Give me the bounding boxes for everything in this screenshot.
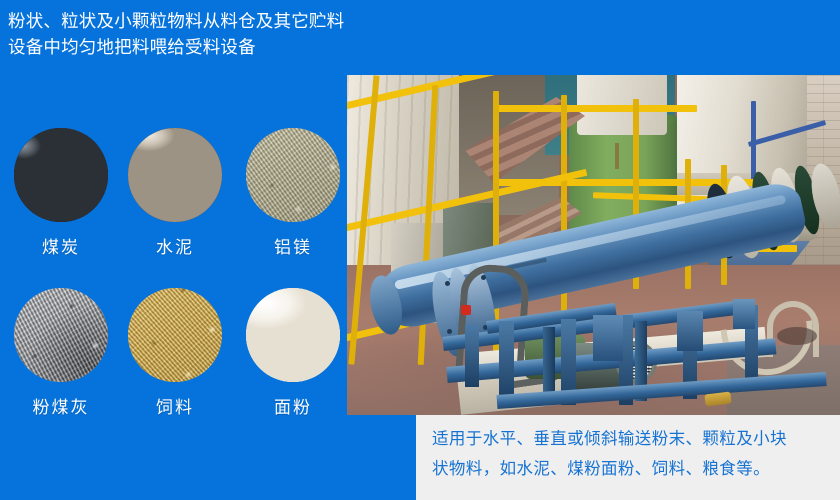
photo-yellow-rail	[497, 105, 697, 112]
photo-floor-shadow	[777, 327, 817, 345]
photo-frame-leg	[499, 321, 514, 401]
material-thumb-feed	[128, 288, 222, 382]
photo-frame-block	[593, 315, 623, 361]
photo-frame-block	[677, 311, 703, 351]
photo-yellow-post	[561, 95, 567, 335]
photo-frame-leg	[465, 325, 479, 387]
material-item-almg[interactable]: 铝镁	[240, 128, 346, 258]
material-item-flyash[interactable]: 粉煤灰	[8, 288, 114, 418]
cement-texture	[128, 128, 222, 222]
caption-text: 适用于水平、垂直或倾斜输送粉末、颗粒及小块 状物料，如水泥、煤粉面粉、饲料、粮食…	[432, 424, 832, 484]
photo-rust-streak-1	[615, 143, 619, 169]
coal-texture	[14, 128, 108, 222]
photo-frame-post	[543, 327, 555, 401]
photo-flange-bolt	[447, 329, 452, 334]
material-item-cement[interactable]: 水泥	[122, 128, 228, 258]
feed-texture	[128, 288, 222, 382]
material-thumb-coal	[14, 128, 108, 222]
material-item-flour[interactable]: 面粉	[240, 288, 346, 418]
material-thumb-flour	[246, 288, 340, 382]
photo-frame-block	[733, 299, 755, 329]
product-photo	[347, 75, 840, 415]
material-thumb-almg	[246, 128, 340, 222]
material-item-coal[interactable]: 煤炭	[8, 128, 114, 258]
material-item-feed[interactable]: 饲料	[122, 288, 228, 418]
material-thumb-cement	[128, 128, 222, 222]
promo-banner: 粉状、粒状及小颗粒物料从料仓及其它贮料 设备中均匀地把料喂给受料设备 煤炭 水泥…	[0, 0, 840, 500]
flyash-texture	[14, 288, 108, 382]
almg-texture	[246, 128, 340, 222]
flour-texture	[246, 288, 340, 382]
material-thumb-flyash	[14, 288, 108, 382]
material-label: 面粉	[240, 393, 346, 418]
page-title: 粉状、粒状及小颗粒物料从料仓及其它贮料 设备中均匀地把料喂给受料设备	[8, 8, 420, 60]
material-label: 饲料	[122, 393, 228, 418]
material-label: 煤炭	[8, 233, 114, 258]
photo-flange-bolt	[445, 281, 450, 286]
material-label: 水泥	[122, 233, 228, 258]
photo-hose-red-marker	[461, 305, 471, 315]
material-label: 铝镁	[240, 233, 346, 258]
material-label: 粉煤灰	[8, 393, 114, 418]
